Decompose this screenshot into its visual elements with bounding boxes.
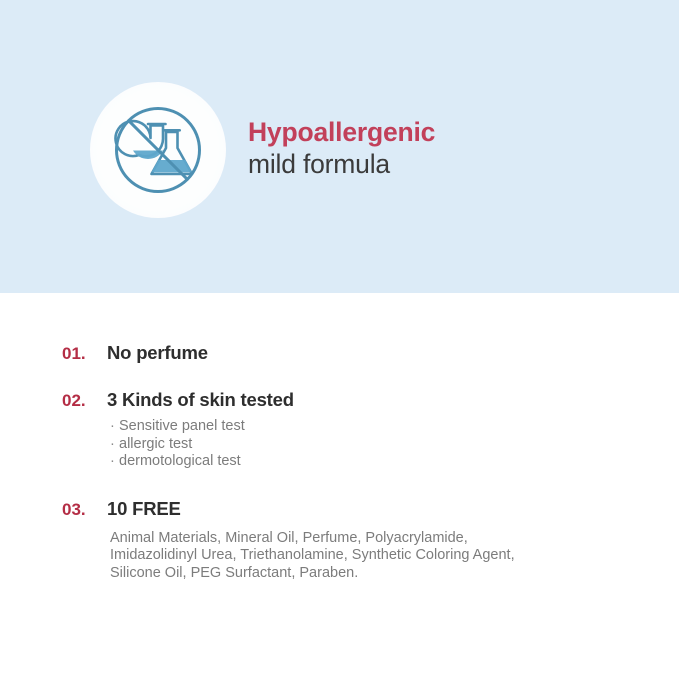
bullet-icon: · — [110, 453, 119, 471]
feature-item-01: 01. No perfume — [62, 342, 639, 364]
hero-banner: Hypoallergenic mild formula — [0, 0, 679, 293]
spacer — [62, 364, 639, 389]
description-line: Imidazolidinyl Urea, Triethanolamine, Sy… — [110, 547, 639, 565]
no-chemicals-icon — [106, 98, 210, 202]
feature-item-02: 02. 3 Kinds of skin tested ·Sensitive pa… — [62, 389, 639, 471]
hero-content: Hypoallergenic mild formula — [90, 82, 435, 218]
icon-badge — [90, 82, 226, 218]
feature-heading: 01. No perfume — [62, 342, 639, 364]
hero-title-secondary: mild formula — [248, 151, 435, 178]
feature-list: 01. No perfume 02. 3 Kinds of skin teste… — [0, 293, 679, 582]
list-item-label: Sensitive panel test — [119, 418, 245, 434]
list-item: ·Sensitive panel test — [110, 418, 639, 436]
list-item: ·dermotological test — [110, 453, 639, 471]
list-item-label: dermotological test — [119, 453, 241, 469]
feature-label: 10 FREE — [107, 498, 181, 520]
description-line: Animal Materials, Mineral Oil, Perfume, … — [110, 530, 639, 548]
feature-item-03: 03. 10 FREE Animal Materials, Mineral Oi… — [62, 498, 639, 583]
list-item-label: allergic test — [119, 436, 192, 452]
feature-description: Animal Materials, Mineral Oil, Perfume, … — [62, 530, 639, 583]
feature-label: No perfume — [107, 342, 208, 364]
feature-heading: 03. 10 FREE — [62, 498, 639, 520]
bullet-icon: · — [110, 418, 119, 436]
hero-title-primary: Hypoallergenic — [248, 119, 435, 146]
feature-number: 02. — [62, 391, 98, 411]
bullet-icon: · — [110, 436, 119, 454]
list-item: ·allergic test — [110, 436, 639, 454]
feature-number: 03. — [62, 500, 98, 520]
hero-title-block: Hypoallergenic mild formula — [248, 119, 435, 181]
feature-sub-list: ·Sensitive panel test ·allergic test ·de… — [62, 418, 639, 471]
spacer — [62, 471, 639, 498]
description-line: Silicone Oil, PEG Surfactant, Paraben. — [110, 565, 639, 583]
feature-heading: 02. 3 Kinds of skin tested — [62, 389, 639, 411]
feature-number: 01. — [62, 344, 98, 364]
feature-label: 3 Kinds of skin tested — [107, 389, 294, 411]
